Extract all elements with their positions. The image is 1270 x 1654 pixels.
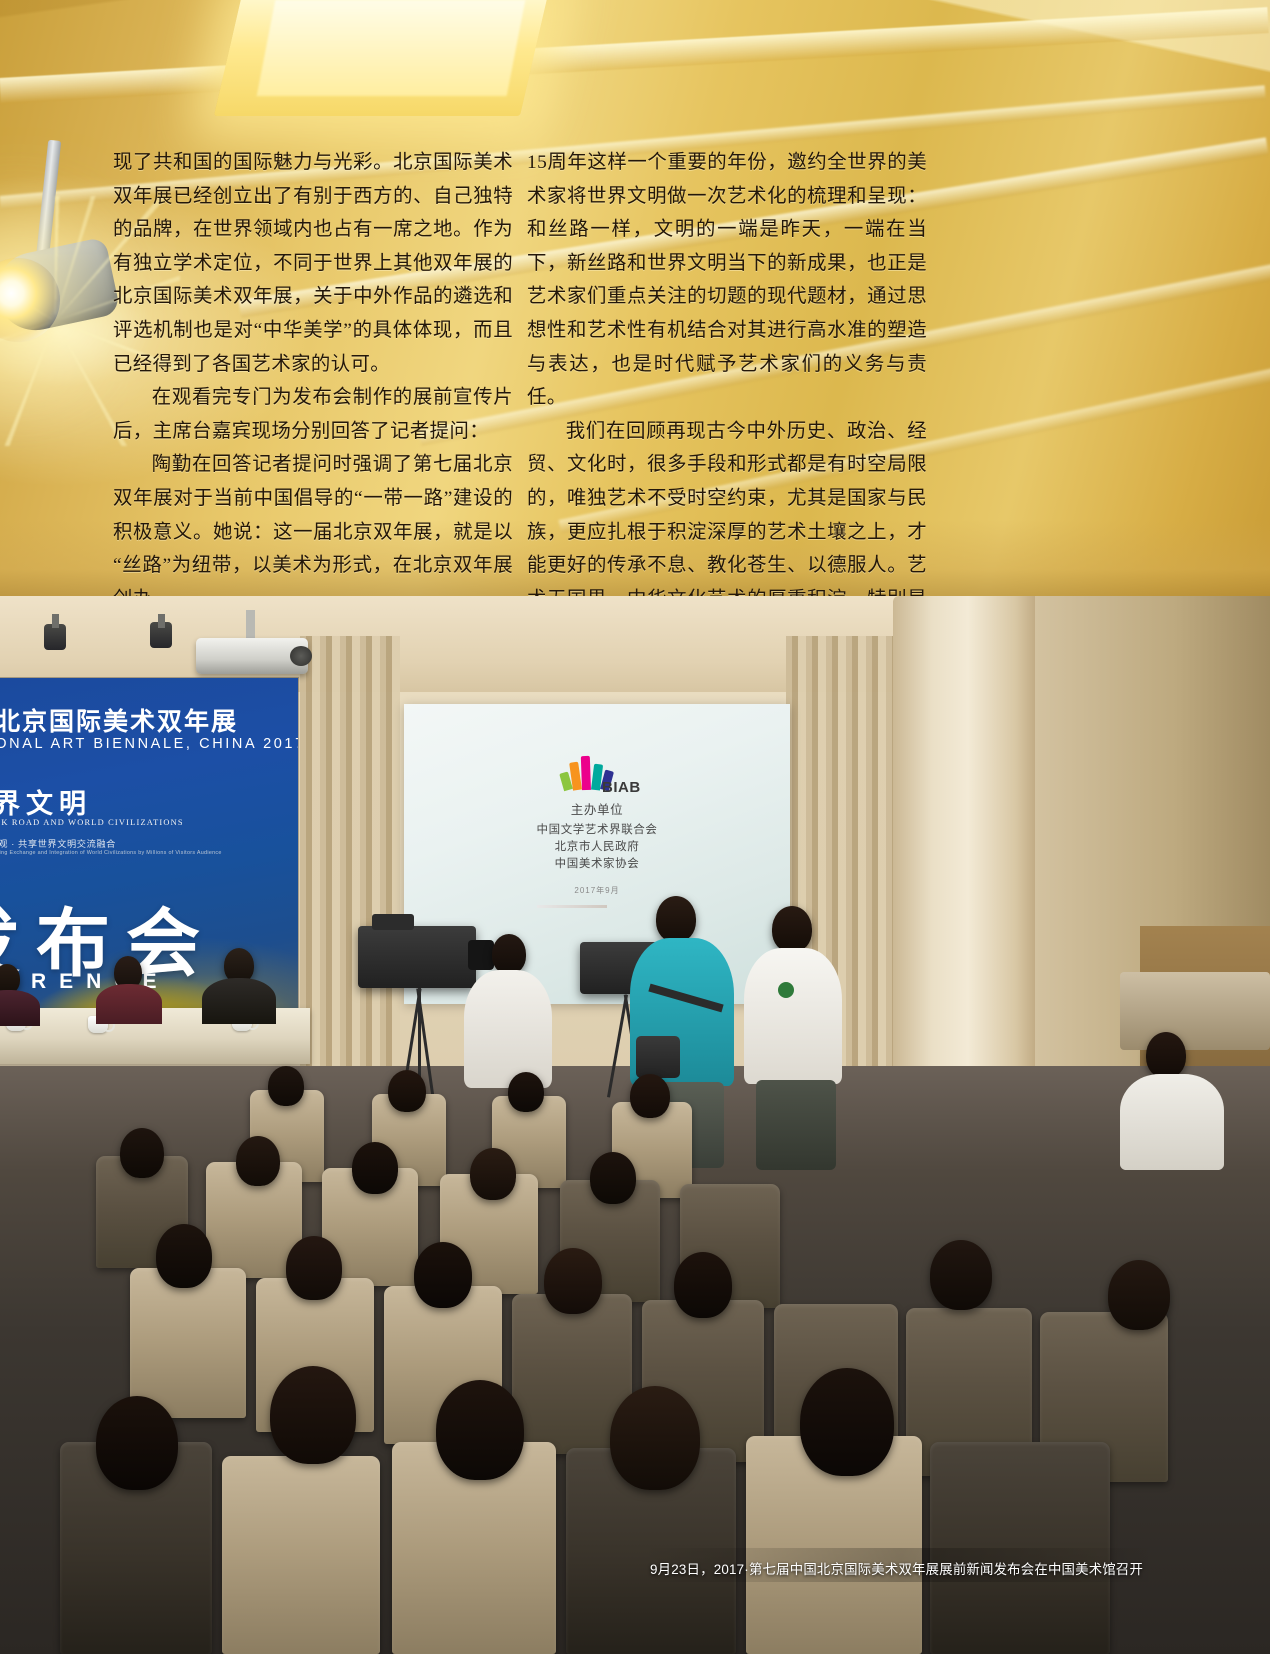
hall-spotlight-rod-1 — [52, 614, 59, 628]
audience-head-r2-2 — [236, 1136, 280, 1186]
audience-head-r3-3 — [414, 1242, 472, 1308]
standing-person-1-body — [464, 970, 552, 1088]
chair-r3-c1 — [130, 1268, 246, 1418]
panelist-2-body — [202, 978, 276, 1024]
paragraph-left-3: 陶勤在回答记者提问时强调了第七届北京双年展对于当前中国倡导的“一带一路”建设的积… — [113, 448, 513, 616]
audience-head-r4-3 — [436, 1380, 524, 1480]
audience-head-r4-5 — [800, 1368, 894, 1476]
audience-head-r3-2 — [286, 1236, 342, 1300]
screen-heading: 主办单位 — [537, 802, 658, 819]
banner-theme-en: THE SILK ROAD AND WORLD CIVILIZATIONS — [0, 818, 184, 827]
biab-logo-text: BIAB — [602, 779, 641, 796]
banner-slogan-en: Artistic Approaching Exchange and Integr… — [0, 850, 222, 856]
screen-organizer-block: 主办单位 中国文学艺术界联合会 北京市人民政府 中国美术家协会 2017年9月 — [537, 802, 658, 908]
screen-date: 2017年9月 — [537, 882, 658, 899]
audience-head-r4-4 — [610, 1386, 700, 1490]
tv-camera-1-lens — [468, 940, 494, 970]
tv-camera-1 — [358, 926, 476, 988]
banner-slogan-cn: 新 万众参观 · 共享世界文明交流融合 — [0, 836, 116, 850]
photo-caption: 9月23日，2017·第七届中国北京国际美术双年展展前新闻发布会在中国美术馆召开 — [650, 1558, 1143, 1578]
audience-head-r3-5 — [674, 1252, 732, 1318]
audience-head-r3-8 — [1108, 1260, 1170, 1330]
banner-theme-cn: 世界文明 — [0, 782, 92, 821]
panelist-1-body — [96, 984, 162, 1024]
standing-person-2-head — [656, 896, 696, 942]
audience-head-r4-1 — [96, 1396, 178, 1490]
audience-head-r2-1 — [120, 1128, 164, 1178]
hall-spotlight-rod-2 — [158, 614, 165, 628]
chair-r4-c2 — [222, 1456, 380, 1654]
tshirt-graphic — [778, 982, 794, 998]
standing-person-4-body — [1120, 1074, 1224, 1170]
standing-person-4-head — [1146, 1032, 1186, 1078]
audience-head-r4-2 — [270, 1366, 356, 1464]
article-left-column: 现了共和国的国际魅力与光彩。北京国际美术双年展已经创立出了有别于西方的、自己独特… — [113, 146, 513, 616]
screen-divider — [537, 905, 607, 908]
article-right-column: 15周年这样一个重要的年份，邀约全世界的美术家将世界文明做一次艺术化的梳理和呈现… — [527, 146, 927, 650]
standing-person-3-trousers — [756, 1080, 836, 1170]
paragraph-right-1: 15周年这样一个重要的年份，邀约全世界的美术家将世界文明做一次艺术化的梳理和呈现… — [527, 146, 927, 415]
curtain-left — [300, 636, 400, 1106]
audience-head-r3-4 — [544, 1248, 602, 1314]
audience-head-r2-3 — [352, 1142, 398, 1194]
paragraph-left-1: 现了共和国的国际魅力与光彩。北京国际美术双年展已经创立出了有别于西方的、自己独特… — [113, 146, 513, 381]
screen-organizer-1: 中国文学艺术界联合会 — [537, 824, 658, 836]
article-text-layer: 现了共和国的国际魅力与光彩。北京国际美术双年展已经创立出了有别于西方的、自己独特… — [0, 0, 1270, 600]
audience-head-r3-7 — [930, 1240, 992, 1310]
standing-person-1-head — [492, 934, 526, 974]
audience-head-r2-4 — [470, 1148, 516, 1200]
screen-organizer-3: 中国美术家协会 — [555, 858, 640, 870]
side-table — [1120, 972, 1270, 1050]
screen-organizer-2: 北京市人民政府 — [555, 841, 640, 853]
audience-head-r2-5 — [590, 1152, 636, 1204]
banner-title-en: ATIONAL ART BIENNALE, CHINA 2017 — [0, 736, 298, 752]
magazine-page: 现了共和国的国际魅力与光彩。北京国际美术双年展已经创立出了有别于西方的、自己独特… — [0, 0, 1270, 1654]
audience-head-r1-2 — [388, 1070, 426, 1112]
biab-logo: BIAB — [558, 752, 636, 798]
projector-lens — [290, 646, 312, 666]
banner-title-cn: 国北京国际美术双年展 — [0, 702, 298, 738]
tv-camera-1-viewfinder — [372, 914, 414, 930]
paragraph-left-2: 在观看完专门为发布会制作的展前宣传片后，主席台嘉宾现场分别回答了记者提问： — [113, 381, 513, 448]
standing-person-3-head — [772, 906, 812, 952]
standing-person-3-body — [744, 948, 842, 1084]
press-conference-photograph: BIAB 主办单位 中国文学艺术界联合会 北京市人民政府 中国美术家协会 201… — [0, 596, 1270, 1654]
audience-head-r3-1 — [156, 1224, 212, 1288]
shoulder-bag — [636, 1036, 680, 1078]
audience-head-r1-3 — [508, 1072, 544, 1112]
audience-head-r1-4 — [630, 1074, 670, 1118]
audience-head-r1-1 — [268, 1066, 304, 1106]
